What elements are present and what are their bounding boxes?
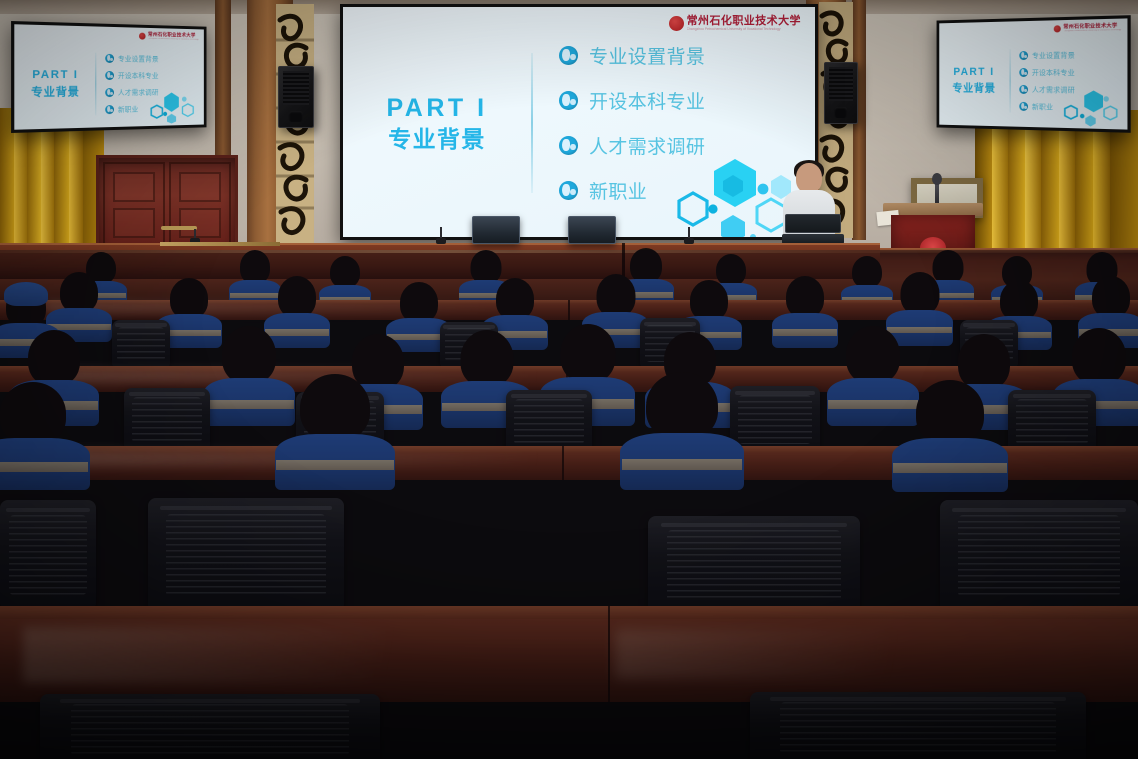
slide-logo-right: 常州石化职业技术大学 Changzhou Petrochemical Unive… (1053, 23, 1121, 34)
side-display-right: 常州石化职业技术大学 Changzhou Petrochemical Unive… (937, 15, 1131, 133)
globe-icon (105, 105, 114, 114)
part-number-label: PART I (14, 69, 95, 82)
list-item: 开设本科专业 (105, 70, 158, 80)
globe-icon (1019, 51, 1028, 60)
part-title-label: 专业背景 (939, 80, 1009, 96)
presenter-head (796, 163, 822, 193)
globe-icon (559, 136, 578, 155)
curtain-right (975, 110, 1138, 262)
globe-icon (1019, 102, 1028, 111)
slide-divider (95, 53, 96, 116)
laptop-screen (785, 214, 841, 233)
part-number-label: PART I (939, 66, 1009, 78)
globe-icon (105, 88, 114, 97)
bullet-label: 专业设置背景 (118, 54, 159, 64)
slide-logo-main: 常州石化职业技术大学 Changzhou Petrochemical Unive… (669, 14, 801, 32)
head-table-nameplate (160, 242, 280, 246)
head-table-microphone-2 (684, 232, 694, 244)
part-block-left: PART I 专业背景 (14, 69, 95, 101)
logo-en-text: Changzhou Petrochemical University of Vo… (687, 27, 801, 32)
list-item: 开设本科专业 (1019, 67, 1075, 77)
list-item: 专业设置背景 (1019, 50, 1075, 61)
bullet-label: 新职业 (589, 177, 647, 204)
globe-icon (559, 46, 578, 65)
logo-cn-text: 常州石化职业技术大学 (687, 14, 801, 27)
wall-speaker-left (278, 66, 314, 128)
part-title-label: 专业背景 (343, 126, 531, 154)
hall-door[interactable] (96, 155, 238, 255)
bullet-label: 开设本科专业 (1032, 67, 1075, 77)
head-table-microphone-1 (436, 232, 446, 244)
main-projection-screen: 常州石化职业技术大学 Changzhou Petrochemical Unive… (340, 4, 818, 240)
part-block-main: PART I 专业背景 (343, 93, 531, 154)
room-dim-overlay (0, 250, 1138, 759)
bullet-label: 开设本科专业 (118, 71, 159, 81)
list-item: 专业设置背景 (559, 42, 705, 69)
bullet-label: 专业设置背景 (589, 42, 705, 69)
lecture-hall-photo: 常州石化职业技术大学 Changzhou Petrochemical Unive… (0, 0, 1138, 759)
list-item: 开设本科专业 (559, 87, 705, 114)
head-table-monitor-2 (568, 216, 616, 244)
hexagon-decoration (1059, 87, 1123, 127)
head-table-monitor-1 (472, 216, 520, 244)
presenter-laptop[interactable] (785, 214, 841, 244)
globe-icon (1019, 85, 1028, 94)
globe-icon (105, 71, 114, 80)
podium-microphone-icon (935, 177, 939, 205)
slide-divider (531, 53, 533, 193)
slide-logo-left: 常州石化职业技术大学 Changzhou Petrochemical Unive… (139, 32, 199, 42)
hexagon-decoration (144, 88, 201, 124)
part-title-label: 专业背景 (14, 83, 95, 100)
bullet-label: 专业设置背景 (1032, 50, 1075, 61)
bullet-label: 开设本科专业 (589, 87, 705, 114)
university-seal-icon (669, 16, 684, 31)
list-item: 专业设置背景 (105, 53, 158, 63)
globe-icon (1019, 68, 1028, 77)
bullet-label: 新职业 (118, 104, 139, 114)
bullet-label: 新职业 (1032, 102, 1053, 112)
part-block-right: PART I 专业背景 (939, 66, 1009, 96)
globe-icon (559, 91, 578, 110)
globe-icon (105, 54, 114, 63)
side-display-left: 常州石化职业技术大学 Changzhou Petrochemical Unive… (11, 21, 206, 133)
part-number-label: PART I (343, 93, 531, 123)
wall-speaker-right (824, 62, 858, 124)
slide-divider (1010, 49, 1011, 112)
globe-icon (559, 181, 578, 200)
